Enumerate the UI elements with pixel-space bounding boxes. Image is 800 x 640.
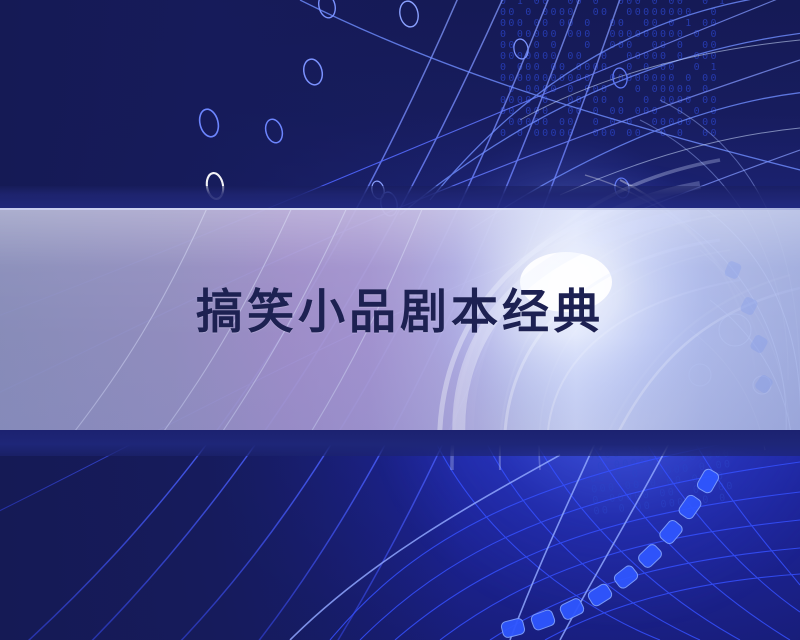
page-title: 搞笑小品剧本经典 [196,288,604,335]
sphere-highlight-lower [290,432,675,640]
accent-bar-bottom [0,430,800,456]
title-band-edge-top [0,208,800,210]
banner-canvas: 0 1 00 00 0 000 0 00 0 1 00 0 0000 00 00… [0,0,800,640]
data-cell-band [500,467,720,638]
accent-bar-top [0,186,800,210]
